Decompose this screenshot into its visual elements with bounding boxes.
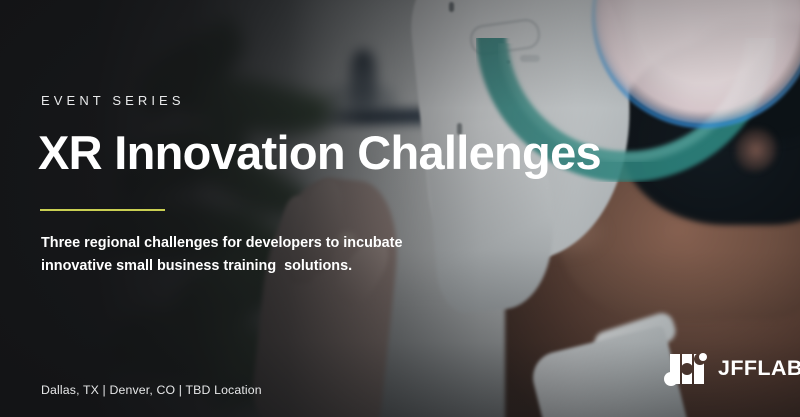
page-title: XR Innovation Challenges <box>38 128 601 177</box>
accent-divider <box>40 209 165 211</box>
eyebrow-label: EVENT SERIES <box>41 93 185 108</box>
jff-labs-mark-icon <box>662 352 708 386</box>
jff-labs-logo[interactable]: JFFLABS <box>662 352 800 386</box>
locations-text: Dallas, TX | Denver, CO | TBD Location <box>41 383 262 397</box>
banner-content: EVENT SERIES XR Innovation Challenges Th… <box>0 0 800 417</box>
jff-labs-wordmark: JFFLABS <box>718 358 800 380</box>
event-banner: EVENT SERIES XR Innovation Challenges Th… <box>0 0 800 417</box>
subtitle-text: Three regional challenges for developers… <box>41 232 402 279</box>
